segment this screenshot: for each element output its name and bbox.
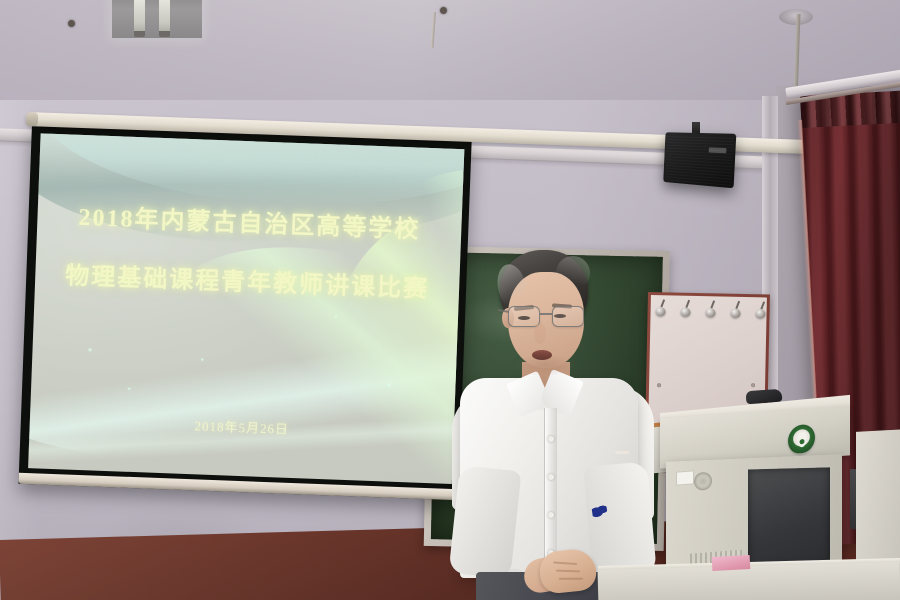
presenter bbox=[452, 250, 667, 600]
left-sleeve bbox=[449, 465, 522, 579]
speaker-badge bbox=[709, 147, 727, 153]
ceiling-hook bbox=[440, 7, 447, 14]
nose bbox=[534, 324, 546, 344]
roller-end-cap bbox=[26, 112, 38, 126]
lectern-label-tag bbox=[676, 470, 694, 485]
gray-hair-highlight bbox=[556, 256, 590, 290]
teeth bbox=[615, 451, 629, 454]
board-screw bbox=[751, 383, 755, 387]
wall-hook-icon[interactable] bbox=[679, 304, 691, 317]
rimless-glasses-icon bbox=[506, 306, 588, 330]
fluorescent-ceiling-light-icon bbox=[112, 0, 202, 38]
wall-hook-icon[interactable] bbox=[704, 304, 716, 317]
shirt-button bbox=[548, 436, 554, 442]
slide-title-line-2: 物理基础课程青年教师讲课比赛 bbox=[65, 255, 430, 304]
classroom-photo: 2018年内蒙古自治区高等学校 物理基础课程青年教师讲课比赛 2018年5月26… bbox=[0, 0, 900, 600]
finger-line bbox=[553, 561, 577, 564]
chin-shadow bbox=[514, 354, 576, 376]
speaker-grille bbox=[665, 134, 734, 186]
shirt-button bbox=[548, 474, 554, 480]
shirt-placket bbox=[544, 408, 557, 568]
shirt-chest-logo bbox=[591, 503, 608, 518]
right-sleeve bbox=[583, 461, 657, 578]
pink-paper-note bbox=[712, 555, 751, 571]
hook-row bbox=[654, 303, 766, 318]
finger-line bbox=[559, 578, 583, 580]
lectern-dark-panel bbox=[748, 467, 830, 567]
black-wall-speaker bbox=[663, 132, 736, 188]
wall-hook-icon[interactable] bbox=[754, 305, 766, 318]
lectern-speaker-grille-icon bbox=[694, 472, 712, 491]
projection-screen: 2018年内蒙古自治区高等学校 物理基础课程青年教师讲课比赛 2018年5月26… bbox=[18, 124, 471, 500]
projected-slide: 2018年内蒙古自治区高等学校 物理基础课程青年教师讲课比赛 2018年5月26… bbox=[28, 133, 464, 484]
university-emblem bbox=[788, 423, 815, 456]
shirt-button bbox=[548, 512, 554, 518]
wall-hook-icon[interactable] bbox=[729, 305, 741, 318]
ceiling-hook bbox=[68, 20, 75, 27]
slide-date: 2018年5月26日 bbox=[194, 415, 289, 438]
finger-line bbox=[556, 570, 580, 572]
slide-title-line-1: 2018年内蒙古自治区高等学校 bbox=[78, 197, 421, 245]
